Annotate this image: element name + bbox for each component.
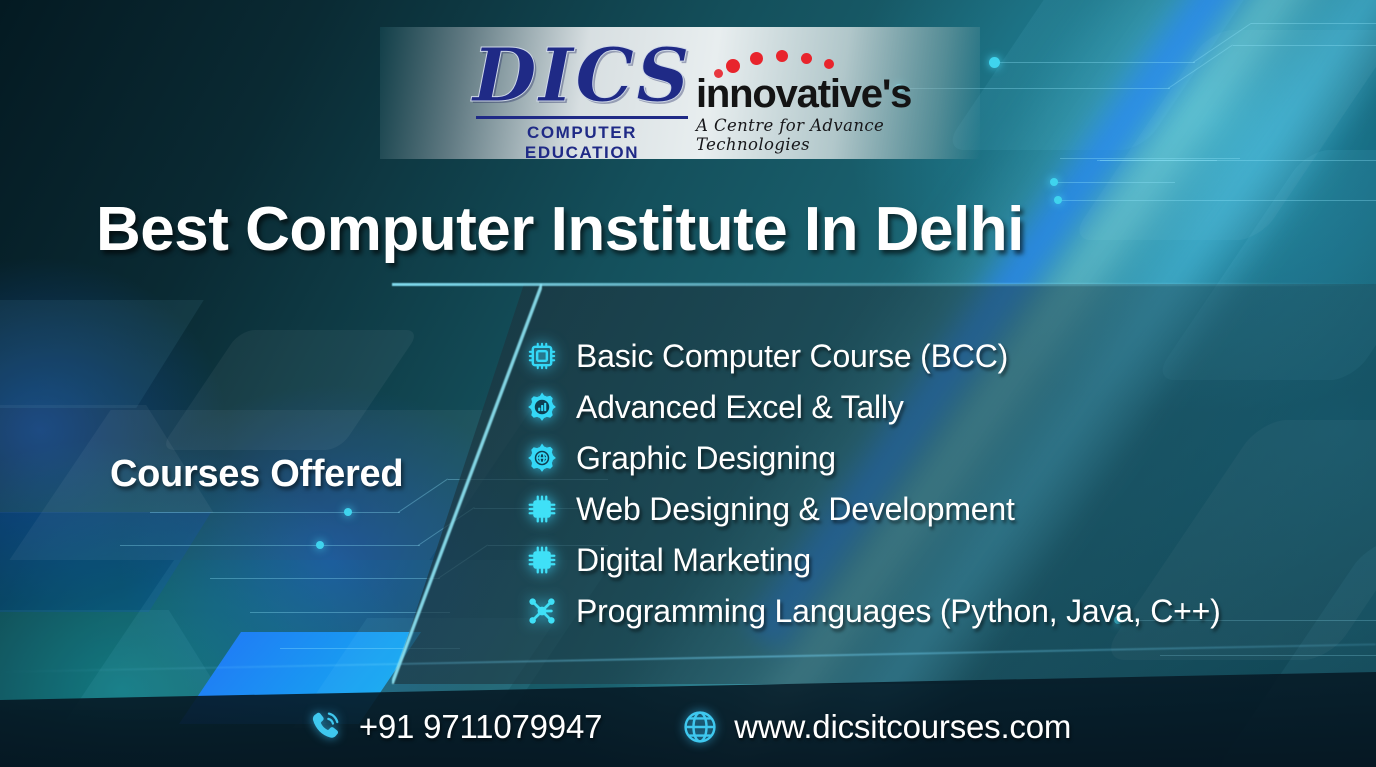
courses-list: Basic Computer Course (BCC) Advanced Exc… bbox=[522, 330, 1342, 636]
course-label: Graphic Designing bbox=[576, 440, 836, 476]
diagonal-plate bbox=[942, 0, 1297, 150]
circuit-trace bbox=[995, 62, 1195, 63]
gear-globe-icon bbox=[522, 438, 562, 478]
course-label: Web Designing & Development bbox=[576, 491, 1015, 527]
chevron-plate bbox=[0, 610, 231, 710]
list-item: Programming Languages (Python, Java, C++… bbox=[522, 585, 1342, 636]
promotional-banner: DICS COMPUTER EDUCATION innovative's A C… bbox=[0, 0, 1376, 767]
gear-chart-icon bbox=[522, 387, 562, 427]
cpu-chip-solid-icon bbox=[522, 540, 562, 580]
globe-icon bbox=[680, 707, 720, 747]
phone-number: +91 9711079947 bbox=[359, 709, 602, 745]
circuit-trace bbox=[1060, 158, 1240, 159]
circuit-trace bbox=[1168, 44, 1233, 88]
circuit-node bbox=[1050, 178, 1058, 186]
circuit-trace bbox=[150, 512, 400, 513]
circuit-trace bbox=[1251, 23, 1376, 24]
course-label: Digital Marketing bbox=[576, 542, 811, 578]
website-url: www.dicsitcourses.com bbox=[734, 709, 1071, 745]
innovatives-name: innovative's bbox=[696, 73, 934, 115]
circuit-trace bbox=[1233, 45, 1376, 46]
course-label: Programming Languages (Python, Java, C++… bbox=[576, 593, 1221, 629]
panel-top-glow-line bbox=[392, 283, 1376, 286]
circuit-node bbox=[316, 541, 324, 549]
dics-logo-subtitle: COMPUTER EDUCATION bbox=[472, 123, 692, 163]
circuit-trace bbox=[1055, 182, 1175, 183]
circuit-node bbox=[989, 57, 1000, 68]
circuit-trace bbox=[1193, 23, 1252, 63]
footer-contact-row: +91 9711079947 www.dicsitcourses.com bbox=[0, 696, 1376, 758]
dics-logo: DICS COMPUTER EDUCATION bbox=[472, 39, 692, 163]
circuit-trace bbox=[1100, 160, 1376, 161]
section-label: Courses Offered bbox=[110, 450, 403, 498]
panel-glow-edge bbox=[392, 284, 542, 684]
phone-call-icon bbox=[305, 707, 345, 747]
red-dots-arc bbox=[696, 51, 934, 77]
network-nodes-icon bbox=[522, 591, 562, 631]
list-item: Web Designing & Development bbox=[522, 483, 1342, 534]
course-label: Advanced Excel & Tally bbox=[576, 389, 904, 425]
website-contact[interactable]: www.dicsitcourses.com bbox=[680, 707, 1071, 747]
list-item: Graphic Designing bbox=[522, 432, 1342, 483]
circuit-trace bbox=[120, 545, 420, 546]
list-item: Digital Marketing bbox=[522, 534, 1342, 585]
cpu-chip-outline-icon bbox=[522, 336, 562, 376]
list-item: Basic Computer Course (BCC) bbox=[522, 330, 1342, 381]
course-label: Basic Computer Course (BCC) bbox=[576, 338, 1008, 374]
innovatives-tagline: A Centre for Advance Technologies bbox=[696, 116, 934, 154]
chevron-plate bbox=[0, 512, 211, 612]
chevron-plate bbox=[0, 300, 204, 408]
circuit-node bbox=[344, 508, 352, 516]
diagonal-plate bbox=[160, 330, 421, 450]
innovatives-logo: innovative's A Centre for Advance Techno… bbox=[696, 51, 934, 154]
page-title: Best Computer Institute In Delhi bbox=[96, 190, 1296, 270]
phone-contact[interactable]: +91 9711079947 bbox=[305, 707, 602, 747]
cpu-chip-solid-icon bbox=[522, 489, 562, 529]
circuit-trace bbox=[1097, 160, 1217, 161]
logo-banner: DICS COMPUTER EDUCATION innovative's A C… bbox=[380, 27, 980, 159]
dics-logo-text: DICS bbox=[472, 39, 692, 113]
list-item: Advanced Excel & Tally bbox=[522, 381, 1342, 432]
